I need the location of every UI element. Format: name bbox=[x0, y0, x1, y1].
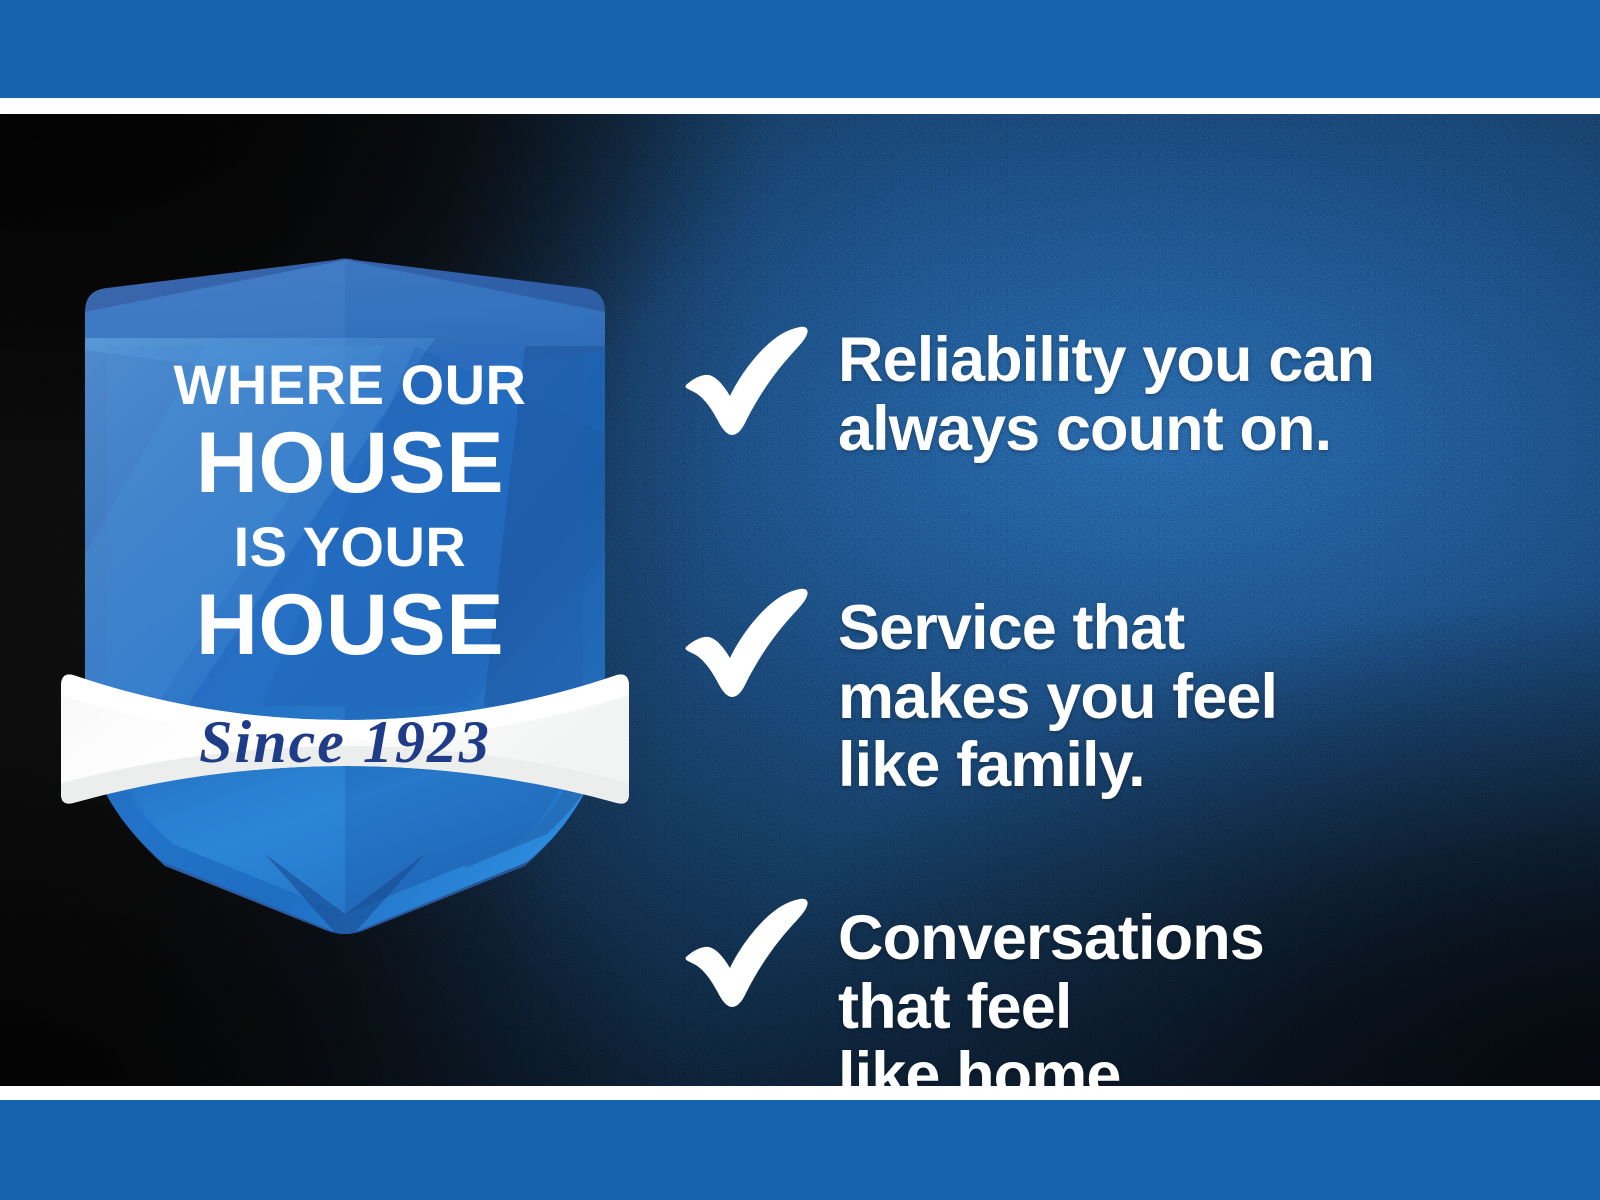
emblem-line-4: HOUSE bbox=[196, 577, 504, 673]
benefit-text-1: Reliability you can always count on. bbox=[838, 322, 1374, 463]
top-brand-bar bbox=[0, 0, 1600, 98]
emblem-line-1: WHERE OUR bbox=[174, 353, 527, 416]
emblem-line-3: IS YOUR bbox=[234, 515, 467, 578]
bottom-brand-bar bbox=[0, 1100, 1600, 1200]
benefit-item-2: Service that makes you feel like family. bbox=[672, 584, 1277, 800]
emblem-line-2: HOUSE bbox=[196, 415, 504, 511]
main-stage: WHERE OUR HOUSE IS YOUR HOUSE Since 1923 bbox=[0, 114, 1600, 1086]
promo-graphic: WHERE OUR HOUSE IS YOUR HOUSE Since 1923 bbox=[0, 0, 1600, 1200]
bottom-white-rule bbox=[0, 1086, 1600, 1100]
benefit-item-1: Reliability you can always count on. bbox=[672, 322, 1374, 463]
shield-emblem: WHERE OUR HOUSE IS YOUR HOUSE Since 1923 bbox=[55, 254, 635, 944]
top-white-rule bbox=[0, 98, 1600, 114]
benefit-item-3: Conversations that feel like home. bbox=[672, 894, 1264, 1086]
checkmark-icon bbox=[672, 584, 822, 704]
benefit-text-3: Conversations that feel like home. bbox=[838, 894, 1264, 1086]
checkmark-icon bbox=[672, 894, 822, 1014]
benefits-list: Reliability you can always count on. Ser… bbox=[672, 264, 1572, 1086]
ribbon-since-text: Since 1923 bbox=[199, 709, 491, 775]
checkmark-icon bbox=[672, 322, 822, 442]
benefit-text-2: Service that makes you feel like family. bbox=[838, 584, 1277, 800]
